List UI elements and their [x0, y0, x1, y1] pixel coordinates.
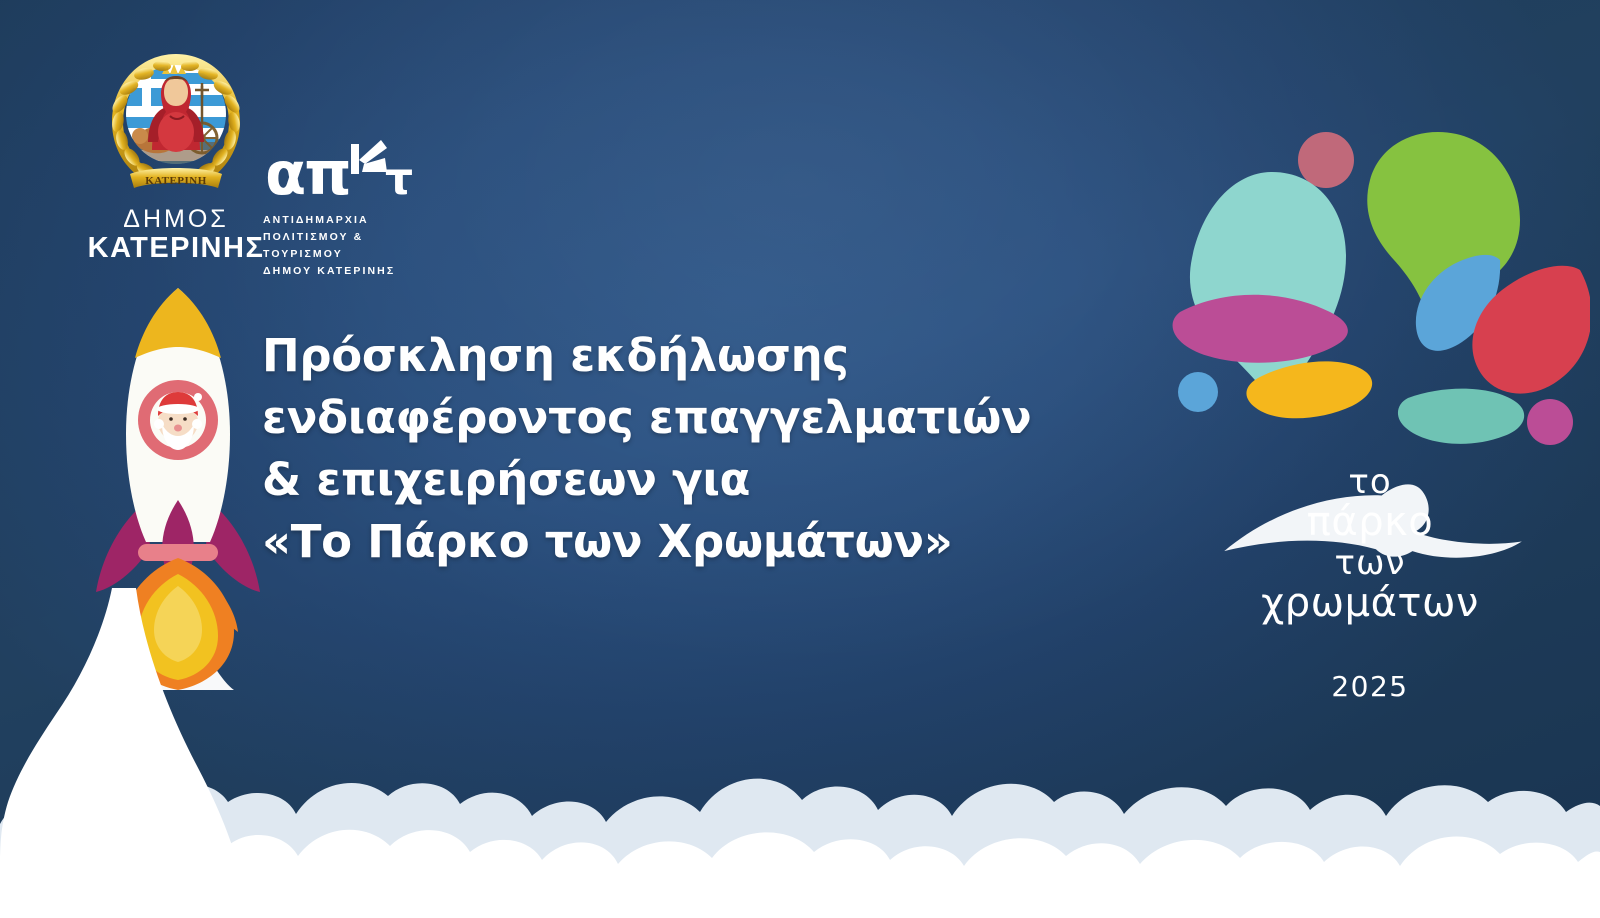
svg-text:απ: απ	[265, 139, 350, 206]
park-logo-line1: το	[1150, 465, 1590, 500]
splash-dot-mauve	[1298, 132, 1354, 188]
poster-canvas: ΚΑΤΕΡΙΝΗ ΔΗΜΟΣ ΚΑΤΕΡΙΝΗΣ απ τ ΑΝ	[0, 0, 1600, 918]
apkt-subtitle-line3: ΤΟΥΡΙΣΜΟΥ	[263, 246, 443, 263]
apkt-subtitle: ΑΝΤΙΔΗΜΑΡΧΙΑ ΠΟΛΙΤΙΣΜΟΥ & ΤΟΥΡΙΣΜΟΥ ΔΗΜΟ…	[263, 212, 443, 280]
headline-line-4: «Το Πάρκο των Χρωμάτων»	[262, 511, 1162, 573]
park-logo-line2: πάρκο	[1150, 502, 1590, 543]
headline-line-1: Πρόσκληση εκδήλωσης	[262, 325, 1162, 387]
park-of-colours-logo: το πάρκο των χρωμάτων 2025	[1150, 110, 1590, 630]
apkt-subtitle-line2: ΠΟΛΙΤΙΣΜΟΥ &	[263, 229, 443, 246]
municipality-name-line1: ΔΗΜΟΣ	[86, 206, 266, 233]
headline-line-3: & επιχειρήσεων για	[262, 449, 1162, 511]
coat-of-arms-icon: ΚΑΤΕΡΙΝΗ	[96, 42, 256, 202]
apkt-subtitle-line4: ΔΗΜΟΥ ΚΑΤΕΡΙΝΗΣ	[263, 263, 443, 280]
apkt-subtitle-line1: ΑΝΤΙΔΗΜΑΡΧΙΑ	[263, 212, 443, 229]
smoke-plume-base	[0, 588, 240, 874]
apkt-kappa-mark	[351, 140, 387, 174]
park-logo-line3: των	[1150, 546, 1590, 581]
apkt-logo-block: απ τ ΑΝΤΙΔΗΜΑΡΧΙΑ ΠΟΛΙΤΙΣΜΟΥ & ΤΟΥΡΙΣΜΟΥ…	[263, 128, 443, 280]
splash-dot-magenta	[1527, 399, 1573, 445]
page-title: Πρόσκληση εκδήλωσης ενδιαφέροντος επαγγε…	[262, 325, 1162, 573]
splash-dot-blue	[1178, 372, 1218, 412]
municipality-name: ΔΗΜΟΣ ΚΑΤΕΡΙΝΗΣ	[86, 206, 266, 263]
municipality-name-line2: ΚΑΤΕΡΙΝΗΣ	[86, 233, 266, 264]
municipality-emblem-block: ΚΑΤΕΡΙΝΗ ΔΗΜΟΣ ΚΑΤΕΡΙΝΗΣ	[86, 42, 266, 263]
svg-text:τ: τ	[385, 154, 413, 205]
cloud-band	[0, 588, 1600, 918]
splash-sweep-seagreen	[1398, 389, 1524, 444]
headline-line-2: ενδιαφέροντος επαγγελματιών	[262, 387, 1162, 449]
emblem-banner-text: ΚΑΤΕΡΙΝΗ	[145, 175, 207, 187]
apkt-wordmark-icon: απ τ	[263, 128, 443, 206]
